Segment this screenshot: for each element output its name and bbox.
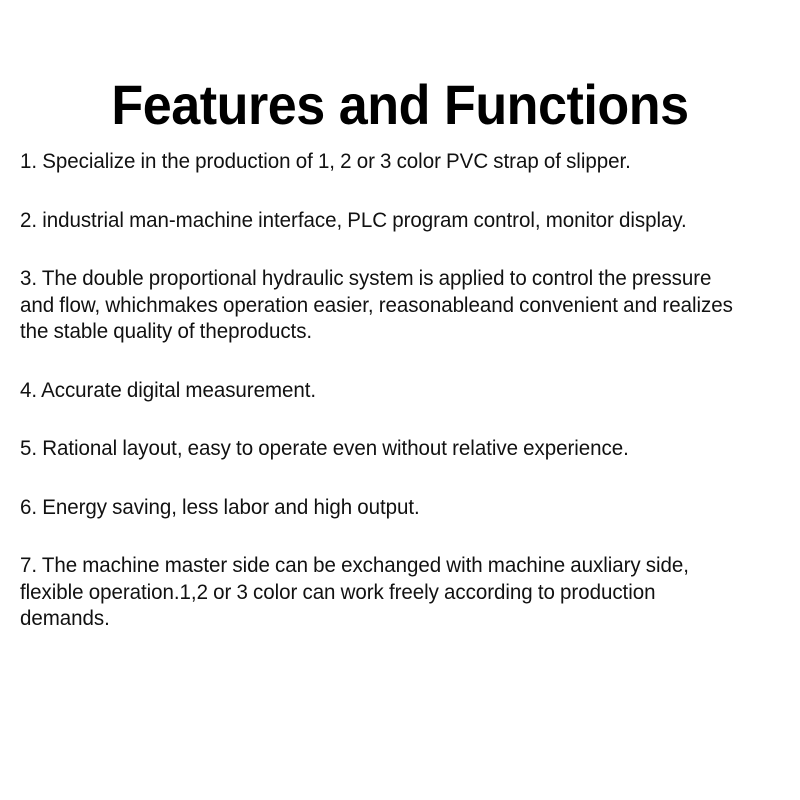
list-item: 2. industrial man-machine interface, PLC… — [20, 207, 748, 234]
list-item: 5. Rational layout, easy to operate even… — [20, 435, 748, 462]
list-item: 7. The machine master side can be exchan… — [20, 552, 748, 632]
list-item: 6. Energy saving, less labor and high ou… — [20, 494, 748, 521]
feature-list: 1. Specialize in the production of 1, 2 … — [20, 148, 782, 632]
page-title: Features and Functions — [28, 74, 772, 136]
list-item: 1. Specialize in the production of 1, 2 … — [20, 148, 748, 175]
list-item: 3. The double proportional hydraulic sys… — [20, 265, 748, 345]
list-item: 4. Accurate digital measurement. — [20, 377, 748, 404]
document-page: Features and Functions 1. Specialize in … — [0, 0, 800, 800]
